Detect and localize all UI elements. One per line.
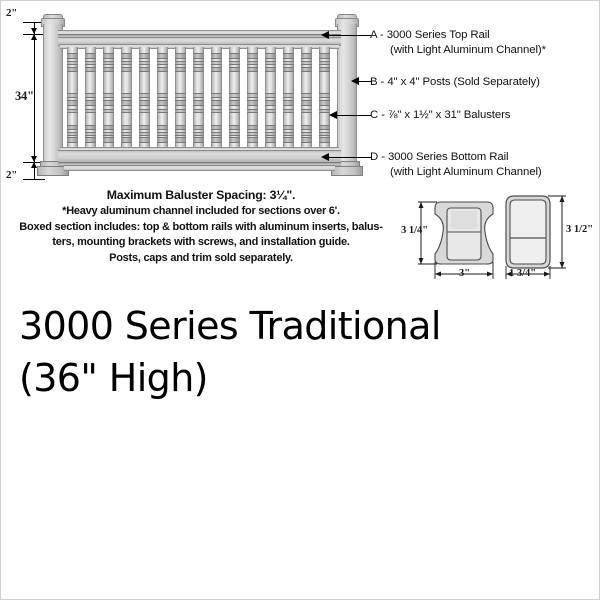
page-title-line-2: (36" High) [19,352,579,404]
bottom-rail-profile-height-label: 3 1/2" [566,224,593,235]
notes-line-1: *Heavy aluminum channel included for sec… [1,204,401,220]
dim-arrow-bottom-up [31,162,37,168]
dim-tick-bot-b [23,179,45,180]
bottom-rail-skirt [64,165,335,171]
notes-line-3: ters, mounting brackets with screws, and… [1,235,401,251]
leader-arrow-c [329,111,337,119]
baluster [283,47,294,148]
top-rail-profile-width-label: 3" [459,268,470,279]
baluster [301,47,312,148]
dim-rule-main [34,34,35,162]
baluster [265,47,276,148]
baluster [211,47,222,148]
notes-block: Maximum Baluster Spacing: 3¼". *Heavy al… [1,187,401,266]
dimension-top-gap-label: 2" [6,7,17,19]
legend-item-a-line2: (with Light Aluminum Channel)* [370,43,546,58]
leader-arrow-a [321,31,329,39]
baluster [319,47,330,148]
legend-item-a-line1: A - 3000 Series Top Rail [370,29,490,41]
notes-heading: Maximum Baluster Spacing: 3¼". [1,187,401,204]
baluster [229,47,240,148]
legend-item-b-line1: B - 4" x 4" Posts (Sold Separately) [370,76,540,88]
right-post-base-lower [331,166,363,176]
leader-line-d [328,157,371,158]
notes-line-4: Posts, caps and trim sold separately. [1,251,401,267]
baluster [121,47,132,148]
page-title: 3000 Series Traditional (36" High) [19,300,579,404]
legend-item-d-line2: (with Light Aluminum Channel) [370,165,542,180]
baluster [157,47,168,148]
baluster [139,47,150,148]
railing-illustration: 2" 34" 2" [1,1,371,191]
leader-line-a [328,35,371,36]
dimension-bottom-gap-label: 2" [6,169,17,181]
baluster [247,47,258,148]
bottom-rail-profile-width-label: 1 3/4" [509,268,536,279]
legend-item-c-line1: C - ⅞" x 1½" x 31" Balusters [370,109,510,121]
baluster [85,47,96,148]
cross-section-group: 3 1/4" 3" 3 1/2" 1 3/4" [401,184,600,284]
legend-item-c: C - ⅞" x 1½" x 31" Balusters [370,108,510,123]
leader-arrow-b [351,77,359,85]
baluster [103,47,114,148]
page-title-line-1: 3000 Series Traditional [19,300,579,352]
diagram-page: 2" 34" 2" [0,0,600,600]
baluster [175,47,186,148]
legend-item-a: A - 3000 Series Top Rail (with Light Alu… [370,28,546,57]
leader-arrow-d [321,153,329,161]
legend-item-d: D - 3000 Series Bottom Rail (with Light … [370,150,542,179]
legend-item-b: B - 4" x 4" Posts (Sold Separately) [370,75,540,90]
dim-arrow-main-up [31,34,37,40]
notes-line-2: Boxed section includes: top & bottom rai… [1,220,401,236]
dimension-rail-height-label: 34" [15,89,34,104]
legend-item-d-line1: D - 3000 Series Bottom Rail [370,151,508,163]
baluster [193,47,204,148]
top-rail-profile-height-label: 3 1/4" [401,225,428,236]
leader-line-c [336,115,371,116]
baluster [67,47,78,148]
